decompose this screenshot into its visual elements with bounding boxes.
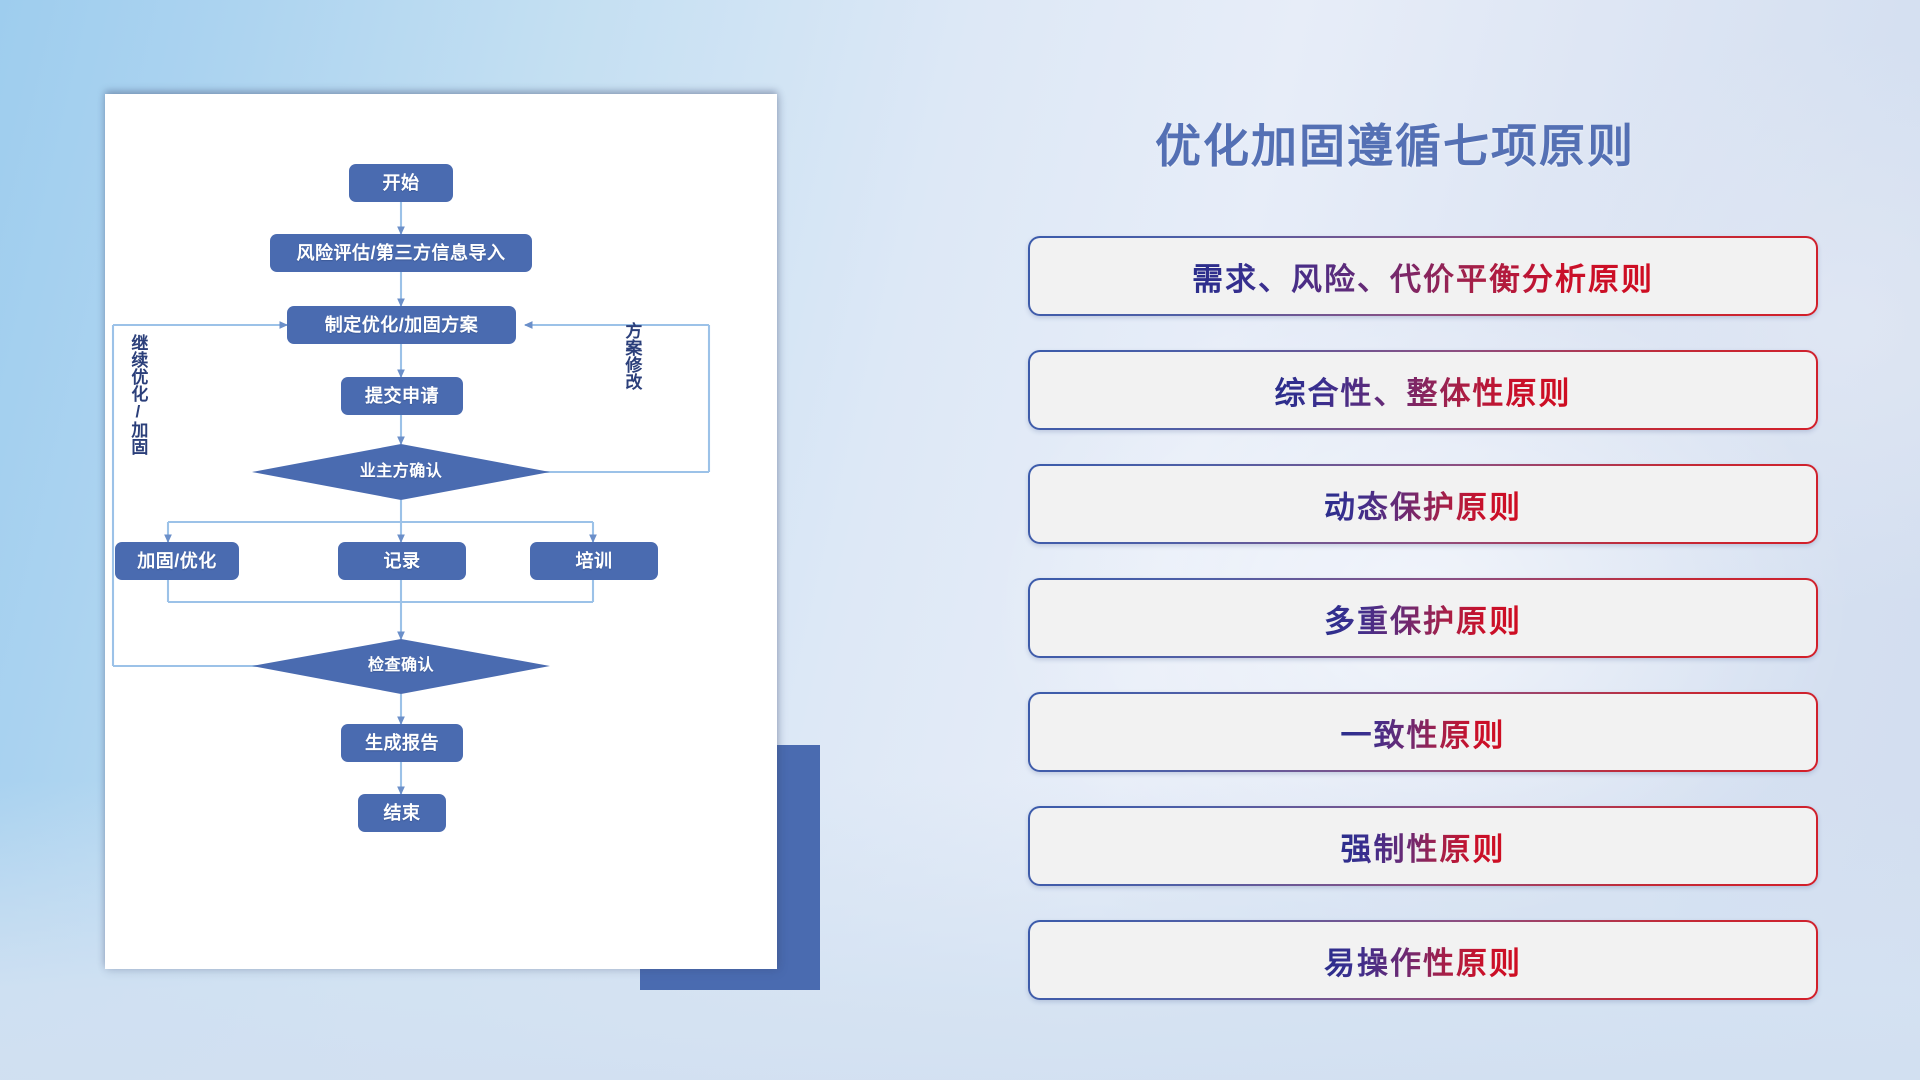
node-record-label: 记录 (384, 552, 421, 571)
node-reinforce-label: 加固/优化 (137, 552, 217, 571)
principle-card-6[interactable]: 强制性原则 (1028, 806, 1818, 886)
principle-card-4[interactable]: 多重保护原则 (1028, 578, 1818, 658)
principle-card-7-inner: 易操作性原则 (1030, 922, 1816, 998)
node-end[interactable]: 结束 (358, 794, 446, 832)
principle-card-5[interactable]: 一致性原则 (1028, 692, 1818, 772)
node-reinforce[interactable]: 加固/优化 (115, 542, 239, 580)
principle-card-2[interactable]: 综合性、整体性原则 (1028, 350, 1818, 430)
node-train[interactable]: 培训 (530, 542, 658, 580)
flowchart-stage: 开始 风险评估/第三方信息导入 制定优化/加固方案 提交申请 业主方确认 加固/… (105, 94, 777, 969)
node-check-confirm[interactable]: 检查确认 (301, 648, 501, 684)
node-owner-confirm-label: 业主方确认 (360, 464, 443, 481)
node-record[interactable]: 记录 (338, 542, 466, 580)
flowchart-card: 开始 风险评估/第三方信息导入 制定优化/加固方案 提交申请 业主方确认 加固/… (105, 94, 777, 969)
node-submit[interactable]: 提交申请 (341, 377, 463, 415)
principle-card-5-inner: 一致性原则 (1030, 694, 1816, 770)
page-title: 优化加固遵循七项原则 (1155, 110, 1635, 176)
node-train-label: 培训 (576, 552, 613, 571)
node-plan-label: 制定优化/加固方案 (325, 316, 479, 335)
node-assess[interactable]: 风险评估/第三方信息导入 (270, 234, 532, 272)
principle-card-4-label: 多重保护原则 (1324, 596, 1522, 641)
edge-label-plan-revision-text: 方案修改 (622, 322, 641, 390)
node-plan[interactable]: 制定优化/加固方案 (287, 306, 516, 344)
node-start-label: 开始 (383, 174, 420, 193)
node-start[interactable]: 开始 (349, 164, 453, 202)
slide-canvas: 开始 风险评估/第三方信息导入 制定优化/加固方案 提交申请 业主方确认 加固/… (0, 0, 1920, 1080)
edge-label-plan-revision: 方案修改 (623, 322, 640, 390)
principles-list: 需求、风险、代价平衡分析原则 综合性、整体性原则 动态保护原则 多重保护原则 一… (1028, 236, 1818, 1034)
node-report-label: 生成报告 (365, 734, 439, 753)
principle-card-1[interactable]: 需求、风险、代价平衡分析原则 (1028, 236, 1818, 316)
node-submit-label: 提交申请 (365, 387, 439, 406)
principle-card-7-label: 易操作性原则 (1324, 938, 1522, 983)
principle-card-1-inner: 需求、风险、代价平衡分析原则 (1030, 238, 1816, 314)
node-report[interactable]: 生成报告 (341, 724, 463, 762)
node-check-confirm-label: 检查确认 (368, 658, 434, 675)
node-assess-label: 风险评估/第三方信息导入 (297, 244, 506, 263)
edge-label-continue-optimize: 继续优化/加固 (129, 334, 146, 455)
node-end-label: 结束 (384, 804, 421, 823)
principle-card-3-label: 动态保护原则 (1324, 482, 1522, 527)
principle-card-7[interactable]: 易操作性原则 (1028, 920, 1818, 1000)
principle-card-3-inner: 动态保护原则 (1030, 466, 1816, 542)
principle-card-3[interactable]: 动态保护原则 (1028, 464, 1818, 544)
flowchart-svg (105, 94, 777, 969)
principle-card-6-label: 强制性原则 (1341, 824, 1506, 869)
principle-card-2-inner: 综合性、整体性原则 (1030, 352, 1816, 428)
principle-card-4-inner: 多重保护原则 (1030, 580, 1816, 656)
principle-card-2-label: 综合性、整体性原则 (1275, 368, 1572, 413)
principle-card-1-label: 需求、风险、代价平衡分析原则 (1192, 254, 1654, 299)
principle-card-5-label: 一致性原则 (1341, 710, 1506, 755)
principle-card-6-inner: 强制性原则 (1030, 808, 1816, 884)
edge-label-continue-optimize-text: 继续优化/加固 (128, 334, 147, 455)
node-owner-confirm[interactable]: 业主方确认 (301, 454, 501, 490)
